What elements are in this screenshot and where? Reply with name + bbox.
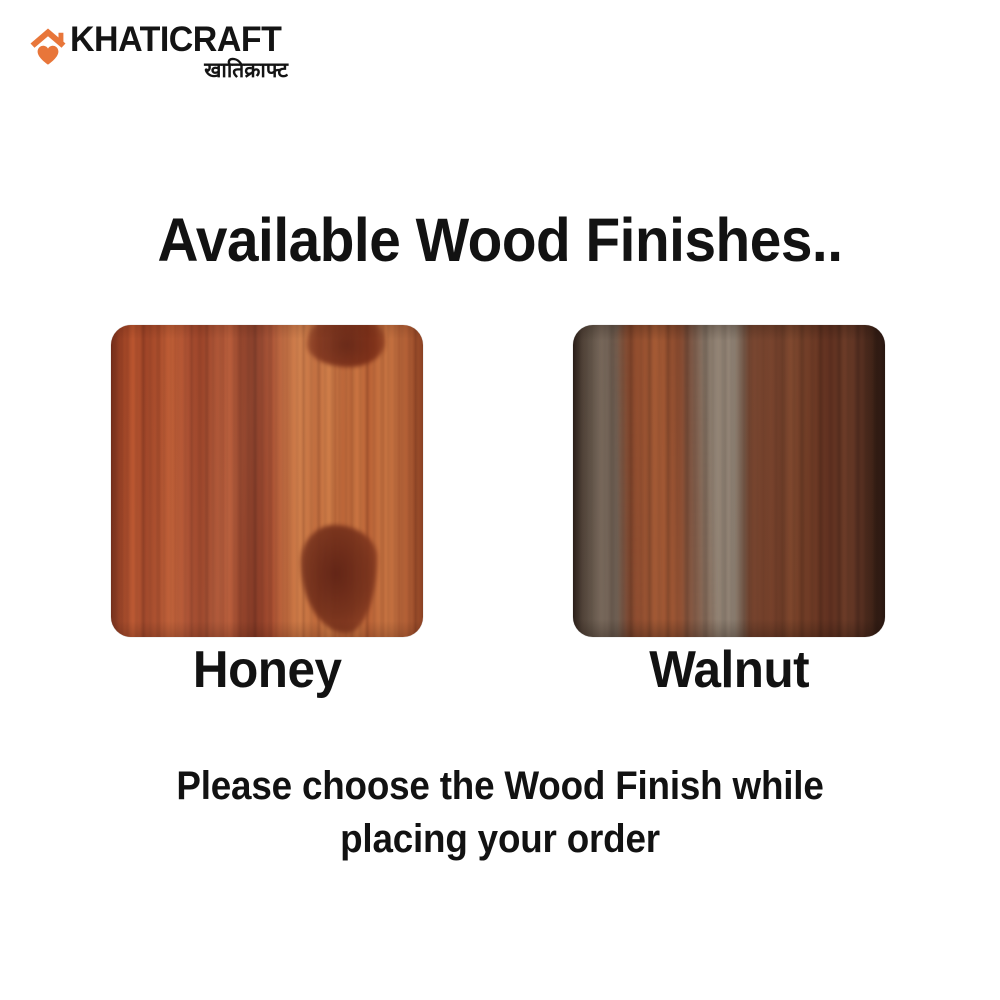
walnut-wood-swatch[interactable]	[573, 325, 885, 637]
brand-text-block: KHATICRAFT खातिक्राफ्ट	[70, 22, 288, 81]
brand-wordmark-devanagari: खातिक्राफ्ट	[204, 60, 288, 81]
finish-label-honey: Honey	[193, 641, 342, 699]
honey-edge-shading	[111, 325, 423, 637]
honey-wood-swatch[interactable]	[111, 325, 423, 637]
finish-option-honey[interactable]: Honey	[111, 325, 423, 699]
footer-instruction-line2: placing your order	[169, 813, 831, 866]
wood-finishes-poster: KHATICRAFT खातिक्राफ्ट Available Wood Fi…	[0, 0, 1000, 1000]
footer-instruction-line1: Please choose the Wood Finish while	[169, 760, 831, 813]
finish-option-walnut[interactable]: Walnut	[573, 325, 885, 699]
finish-swatch-row: Honey Walnut	[0, 325, 1000, 685]
finish-label-walnut: Walnut	[649, 641, 809, 699]
footer-instruction: Please choose the Wood Finish while plac…	[140, 760, 860, 866]
walnut-edge-shading	[573, 325, 885, 637]
page-title: Available Wood Finishes..	[35, 208, 965, 273]
brand-logo[interactable]: KHATICRAFT खातिक्राफ्ट	[28, 22, 288, 81]
brand-wordmark: KHATICRAFT	[70, 22, 281, 57]
house-heart-icon	[28, 26, 68, 68]
